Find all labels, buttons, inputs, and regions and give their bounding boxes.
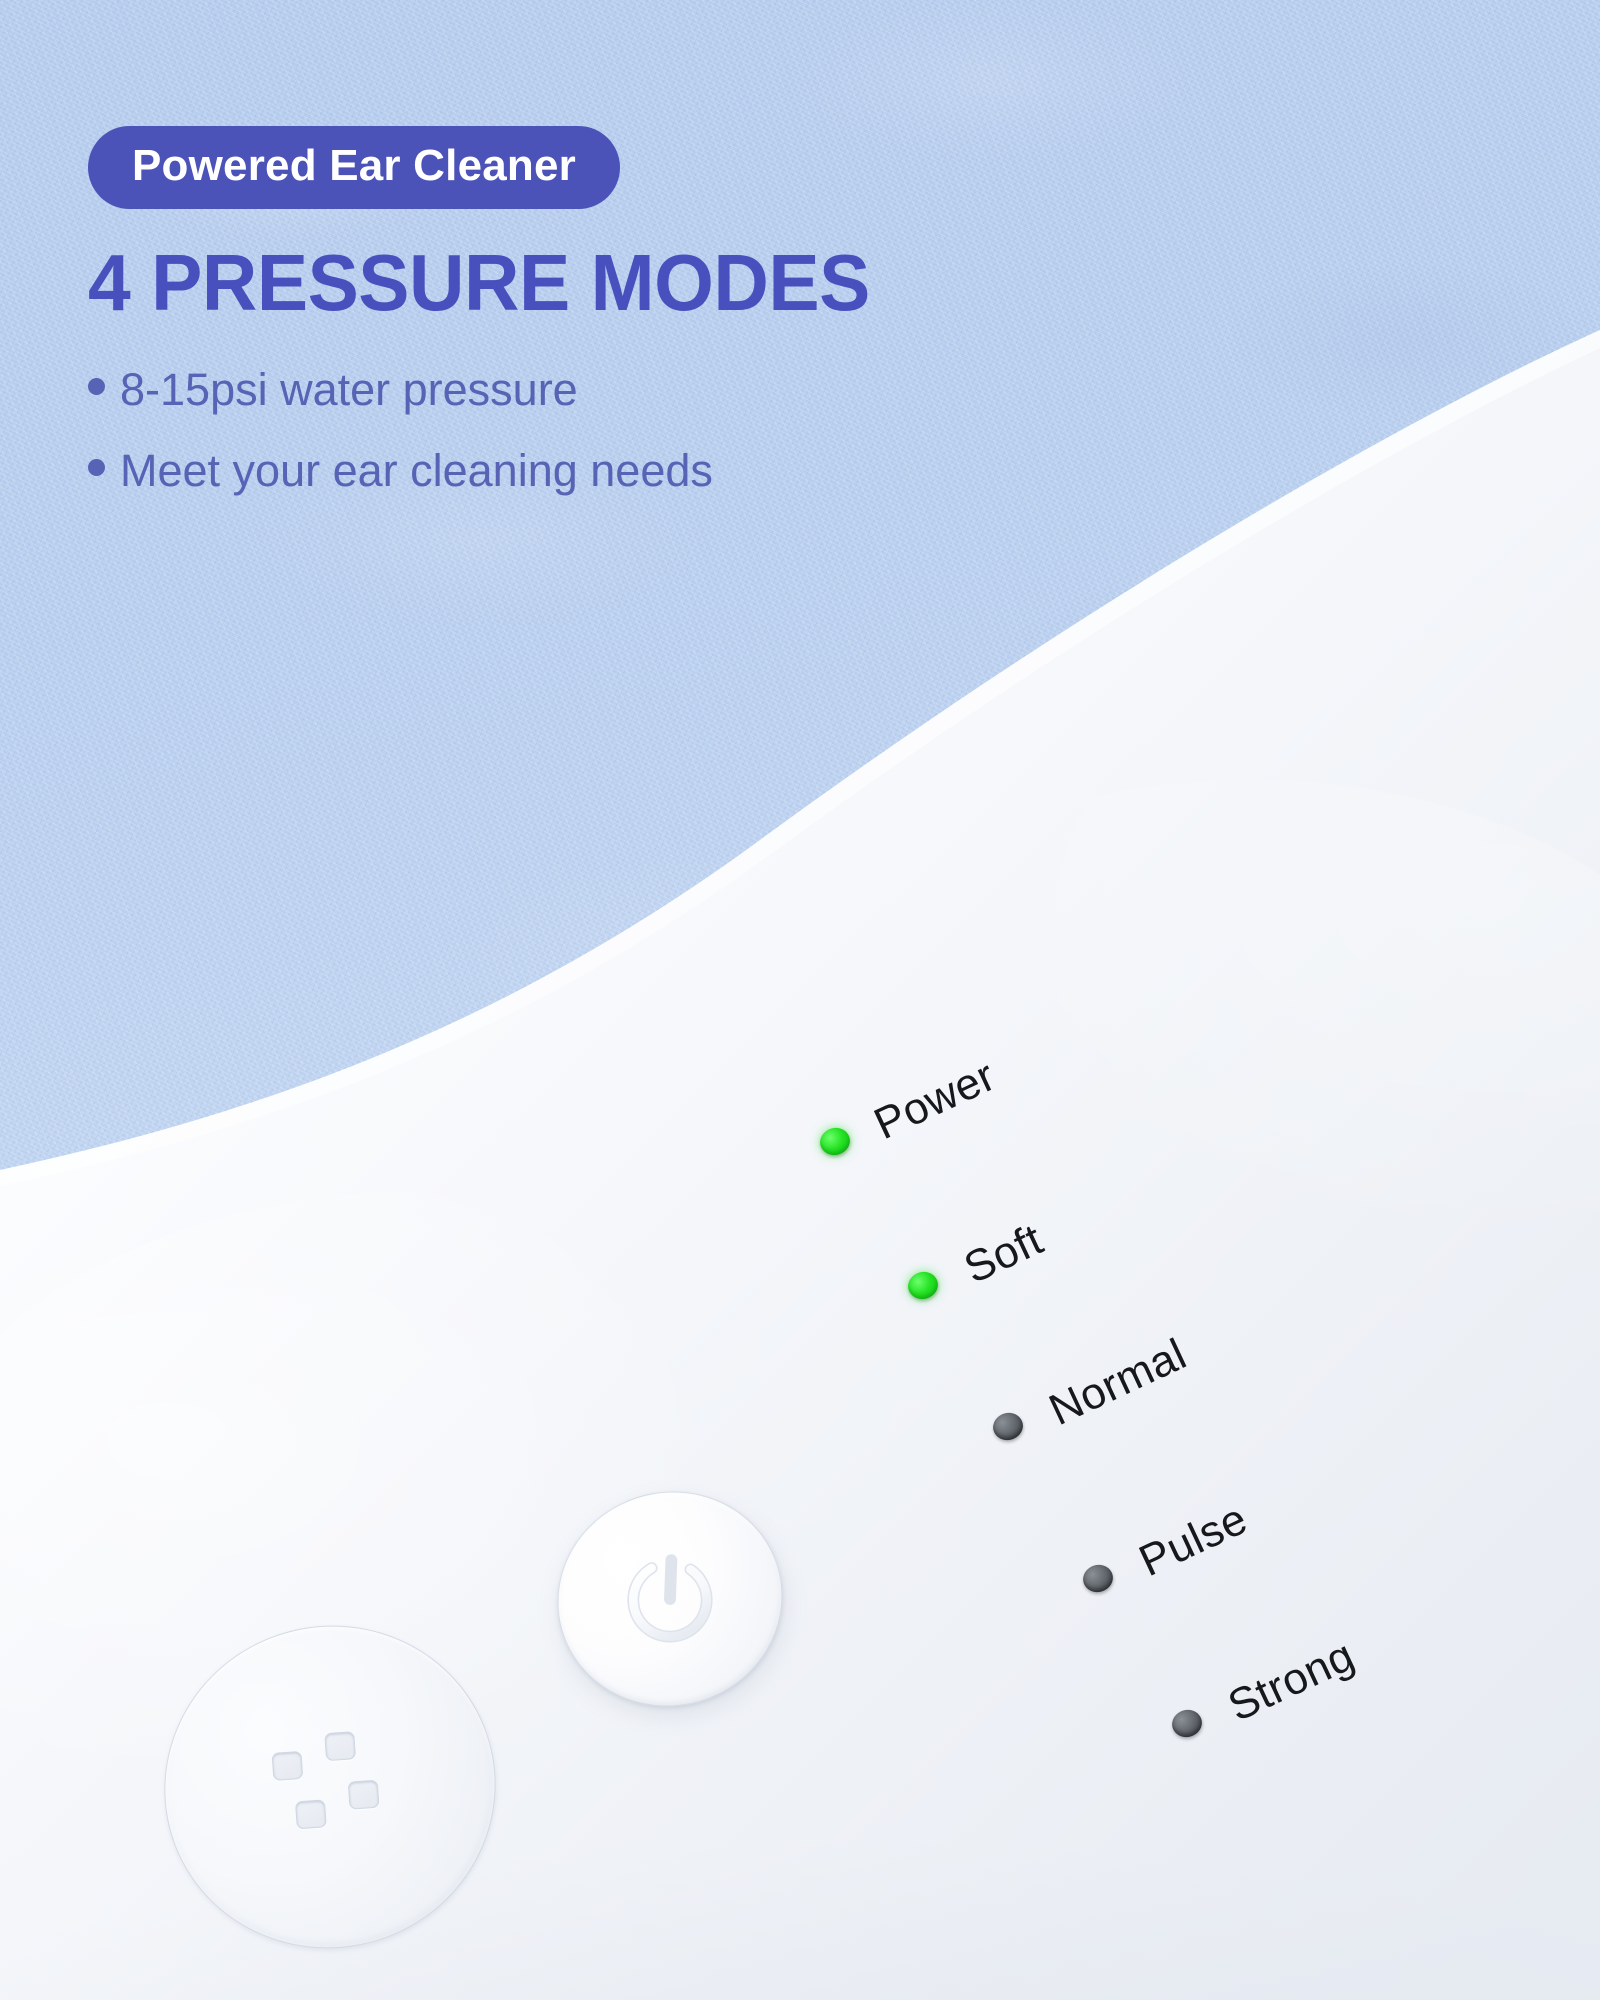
list-item: Meet your ear cleaning needs bbox=[88, 448, 1148, 493]
nozzle-hole bbox=[295, 1799, 327, 1829]
power-icon bbox=[614, 1543, 726, 1655]
product-badge: Powered Ear Cleaner bbox=[88, 126, 620, 209]
bullet-dot-icon bbox=[88, 459, 105, 476]
bullet-text: 8-15psi water pressure bbox=[120, 367, 578, 412]
nozzle-hole bbox=[348, 1780, 380, 1810]
feature-bullet-list: 8-15psi water pressure Meet your ear cle… bbox=[88, 367, 1148, 493]
bullet-dot-icon bbox=[88, 378, 105, 395]
page-title: 4 PRESSURE MODES bbox=[88, 243, 1106, 323]
nozzle-hole bbox=[324, 1731, 356, 1761]
bullet-text: Meet your ear cleaning needs bbox=[120, 448, 713, 493]
product-feature-poster: Powered Ear Cleaner 4 PRESSURE MODES 8-1… bbox=[0, 0, 1600, 2000]
header-block: Powered Ear Cleaner 4 PRESSURE MODES 8-1… bbox=[88, 126, 1148, 529]
nozzle-hole bbox=[271, 1751, 303, 1781]
list-item: 8-15psi water pressure bbox=[88, 367, 1148, 412]
nozzle-holes-group bbox=[266, 1723, 394, 1851]
